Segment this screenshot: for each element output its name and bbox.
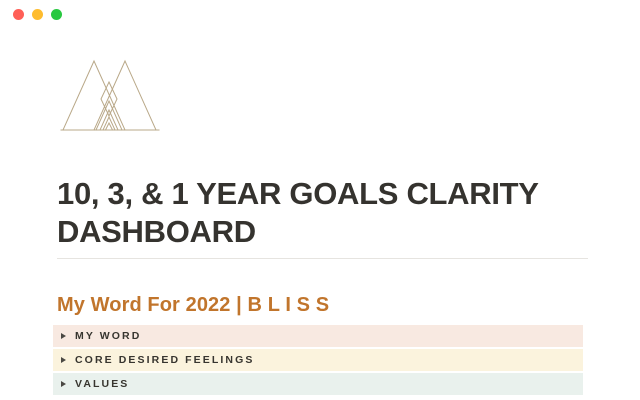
triangle-right-icon[interactable] xyxy=(61,381,66,387)
triangle-right-icon[interactable] xyxy=(61,333,66,339)
toggle-label: CORE DESIRED FEELINGS xyxy=(75,354,254,366)
my-word-subtitle: My Word For 2022 | B L I S S xyxy=(57,292,329,318)
toggle-row-values[interactable]: VALUES xyxy=(53,373,583,395)
toggle-label: MY WORD xyxy=(75,330,141,342)
close-window-button[interactable] xyxy=(13,9,24,20)
toggle-row-core-desired-feelings[interactable]: CORE DESIRED FEELINGS xyxy=(53,349,583,371)
page-content: 10, 3, & 1 YEAR GOALS CLARITY DASHBOARD … xyxy=(0,28,640,400)
maximize-window-button[interactable] xyxy=(51,9,62,20)
toggle-label: VALUES xyxy=(75,378,129,390)
triangle-right-icon[interactable] xyxy=(61,357,66,363)
minimize-window-button[interactable] xyxy=(32,9,43,20)
page-title: 10, 3, & 1 YEAR GOALS CLARITY DASHBOARD xyxy=(57,175,557,251)
toggle-row-my-word[interactable]: MY WORD xyxy=(53,325,583,347)
window-titlebar xyxy=(0,0,640,28)
traffic-light-group xyxy=(13,9,62,20)
title-divider xyxy=(57,258,588,259)
mountain-triangles-logo-icon xyxy=(58,55,162,135)
toggle-list: MY WORD CORE DESIRED FEELINGS VALUES xyxy=(53,325,583,397)
